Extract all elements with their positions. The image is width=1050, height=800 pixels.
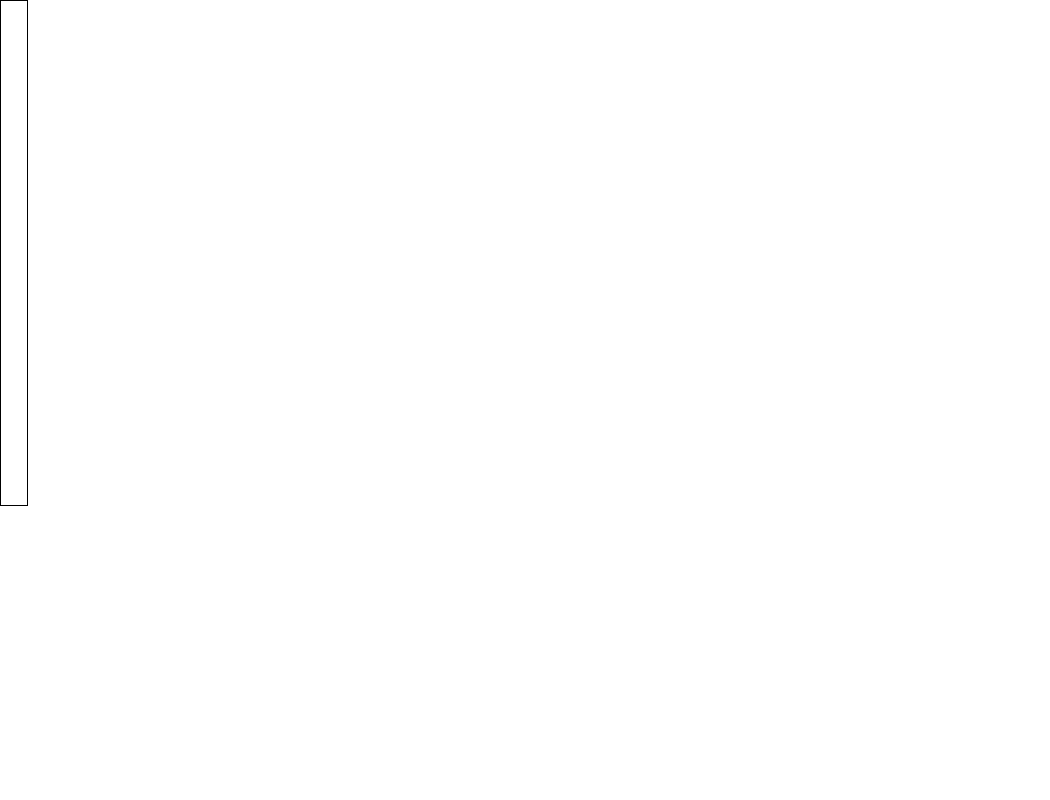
colorbar-gradient xyxy=(1,1,27,501)
figure-canvas-area xyxy=(0,0,1050,800)
colorbar[interactable] xyxy=(0,0,28,506)
